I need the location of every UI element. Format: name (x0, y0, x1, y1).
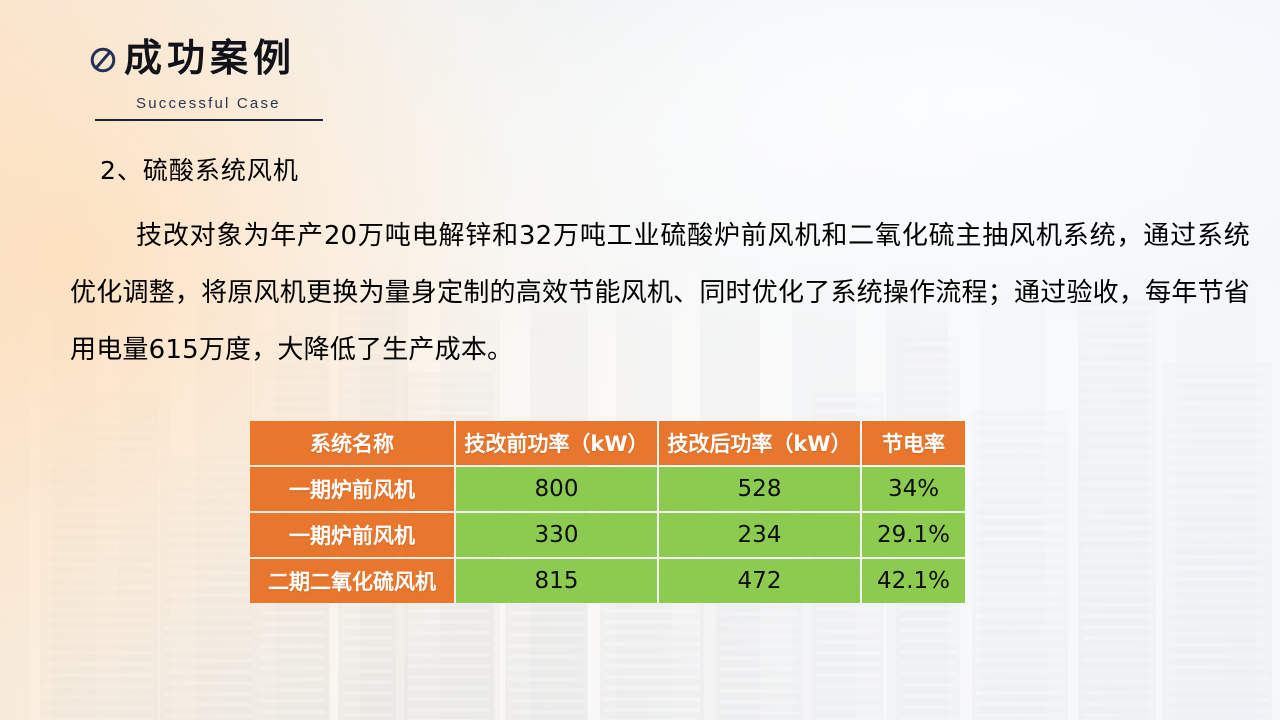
data-table-container: 系统名称 技改前功率（kW） 技改后功率（kW） 节电率 一期炉前风机 800 … (248, 419, 967, 605)
table-header-cell-saving-rate: 节电率 (862, 421, 965, 465)
table-cell-system-name: 一期炉前风机 (250, 513, 454, 557)
table-header-cell-power-after: 技改后功率（kW） (659, 421, 860, 465)
table-row: 二期二氧化硫风机 815 472 42.1% (250, 559, 965, 603)
table-row: 一期炉前风机 800 528 34% (250, 467, 965, 511)
table-header-cell-system-name: 系统名称 (250, 421, 454, 465)
table-cell-power-before: 815 (456, 559, 657, 603)
table-cell-saving-rate: 42.1% (862, 559, 965, 603)
table-header-row: 系统名称 技改前功率（kW） 技改后功率（kW） 节电率 (250, 421, 965, 465)
table-cell-power-after: 234 (659, 513, 860, 557)
table-cell-power-before: 800 (456, 467, 657, 511)
table-cell-power-before: 330 (456, 513, 657, 557)
slashed-circle-icon (88, 45, 118, 75)
slide-root: 成功案例 Successful Case 2、硫酸系统风机 技改对象为年产20万… (0, 0, 1280, 720)
power-comparison-table: 系统名称 技改前功率（kW） 技改后功率（kW） 节电率 一期炉前风机 800 … (248, 419, 967, 605)
table-cell-system-name: 一期炉前风机 (250, 467, 454, 511)
slide-title-block: 成功案例 Successful Case (88, 33, 508, 121)
table-cell-saving-rate: 29.1% (862, 513, 965, 557)
table-cell-system-name: 二期二氧化硫风机 (250, 559, 454, 603)
slide-title-row: 成功案例 (88, 33, 508, 83)
page-subtitle: Successful Case (136, 95, 508, 112)
table-cell-power-after: 528 (659, 467, 860, 511)
table-header-cell-power-before: 技改前功率（kW） (456, 421, 657, 465)
table-cell-saving-rate: 34% (862, 467, 965, 511)
body-paragraph: 技改对象为年产20万吨电解锌和32万吨工业硫酸炉前风机和二氧化硫主抽风机系统，通… (70, 208, 1250, 379)
title-underline-rule (95, 119, 323, 121)
page-title: 成功案例 (124, 39, 296, 77)
table-cell-power-after: 472 (659, 559, 860, 603)
section-heading: 2、硫酸系统风机 (100, 151, 299, 187)
table-row: 一期炉前风机 330 234 29.1% (250, 513, 965, 557)
